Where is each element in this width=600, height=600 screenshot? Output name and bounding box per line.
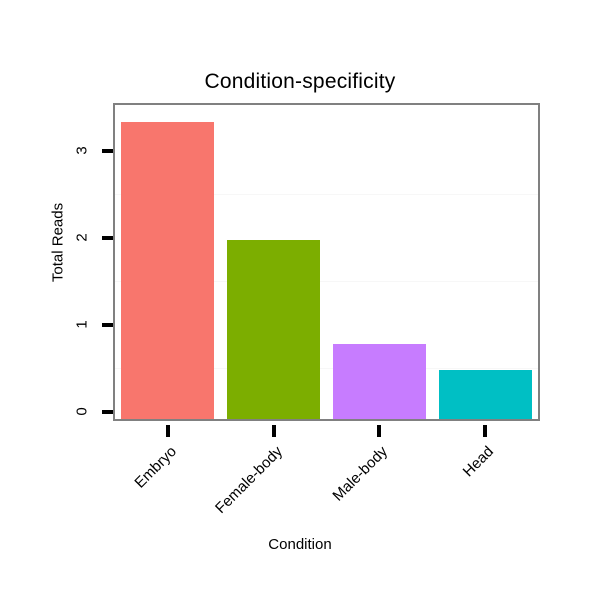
- y-tick-label: 0: [74, 401, 91, 423]
- x-tick-mark: [272, 425, 276, 437]
- plot-panel: [113, 103, 540, 421]
- bar-head: [439, 370, 532, 419]
- chart-title: Condition-specificity: [0, 70, 600, 94]
- y-tick-mark: [102, 149, 113, 153]
- bar-male-body: [333, 344, 426, 419]
- x-tick-mark: [377, 425, 381, 437]
- y-tick-label: 2: [74, 227, 91, 249]
- y-axis-title: Total Reads: [50, 173, 67, 313]
- bar-embryo: [121, 122, 214, 419]
- bar-female-body: [227, 240, 320, 419]
- x-tick-mark: [483, 425, 487, 437]
- y-tick-mark: [102, 410, 113, 414]
- y-tick-mark: [102, 236, 113, 240]
- y-tick-label: 1: [74, 314, 91, 336]
- y-tick-mark: [102, 323, 113, 327]
- y-tick-label: 3: [74, 140, 91, 162]
- x-axis-title: Condition: [0, 536, 600, 553]
- chart-page: Condition-specificity 0123EmbryoFemale-b…: [0, 0, 600, 600]
- plot-area: [115, 105, 538, 419]
- x-tick-mark: [166, 425, 170, 437]
